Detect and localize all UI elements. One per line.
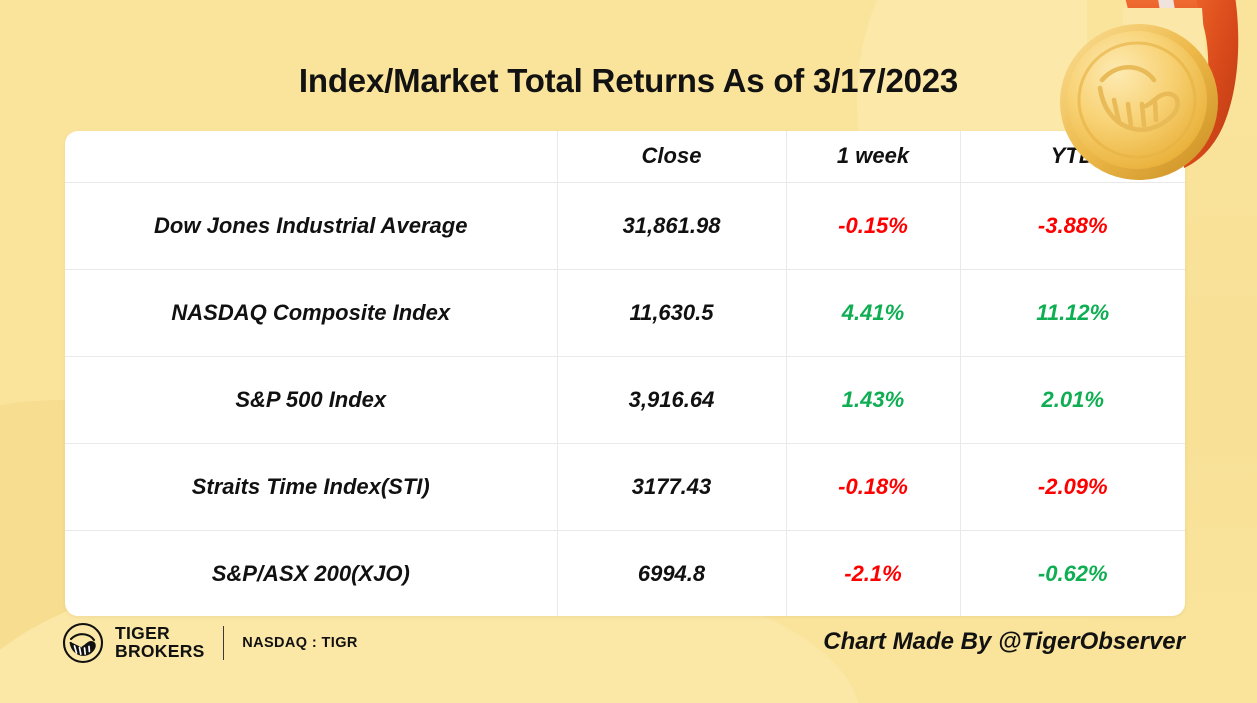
brand-line-2: BROKERS [115, 643, 205, 661]
column-header-ytd: YTD [960, 131, 1185, 182]
returns-table-card: Close 1 week YTD Dow Jones Industrial Av… [65, 131, 1185, 616]
chart-credit: Chart Made By @TigerObserver [823, 628, 1185, 656]
close-value: 3,916.64 [557, 356, 786, 443]
ticker-symbol: NASDAQ : TIGR [242, 635, 358, 651]
one-week-change: -0.18% [786, 443, 960, 530]
table-row: S&P 500 Index 3,916.64 1.43% 2.01% [65, 356, 1185, 443]
returns-table: Close 1 week YTD Dow Jones Industrial Av… [65, 131, 1185, 616]
table-header-row: Close 1 week YTD [65, 131, 1185, 182]
table-row: Dow Jones Industrial Average 31,861.98 -… [65, 182, 1185, 269]
page-title: Index/Market Total Returns As of 3/17/20… [0, 62, 1257, 100]
close-value: 11,630.5 [557, 269, 786, 356]
one-week-change: 1.43% [786, 356, 960, 443]
table-row: S&P/ASX 200(XJO) 6994.8 -2.1% -0.62% [65, 530, 1185, 616]
ytd-change: 11.12% [960, 269, 1185, 356]
close-value: 6994.8 [557, 530, 786, 616]
tiger-brokers-logo: TIGER BROKERS [62, 622, 205, 664]
ytd-change: -3.88% [960, 182, 1185, 269]
brand-wordmark: TIGER BROKERS [115, 625, 205, 661]
ytd-change: 2.01% [960, 356, 1185, 443]
brand-divider [223, 626, 225, 660]
column-header-close: Close [557, 131, 786, 182]
one-week-change: -2.1% [786, 530, 960, 616]
column-header-index [65, 131, 557, 182]
one-week-change: 4.41% [786, 269, 960, 356]
column-header-1-week: 1 week [786, 131, 960, 182]
close-value: 3177.43 [557, 443, 786, 530]
index-name: S&P 500 Index [65, 356, 557, 443]
ytd-change: -0.62% [960, 530, 1185, 616]
index-name: NASDAQ Composite Index [65, 269, 557, 356]
close-value: 31,861.98 [557, 182, 786, 269]
ytd-change: -2.09% [960, 443, 1185, 530]
index-name: S&P/ASX 200(XJO) [65, 530, 557, 616]
table-row: NASDAQ Composite Index 11,630.5 4.41% 11… [65, 269, 1185, 356]
footer-brand: TIGER BROKERS NASDAQ : TIGR [62, 622, 358, 664]
tiger-smile-icon [62, 622, 104, 664]
table-row: Straits Time Index(STI) 3177.43 -0.18% -… [65, 443, 1185, 530]
index-name: Dow Jones Industrial Average [65, 182, 557, 269]
one-week-change: -0.15% [786, 182, 960, 269]
index-name: Straits Time Index(STI) [65, 443, 557, 530]
